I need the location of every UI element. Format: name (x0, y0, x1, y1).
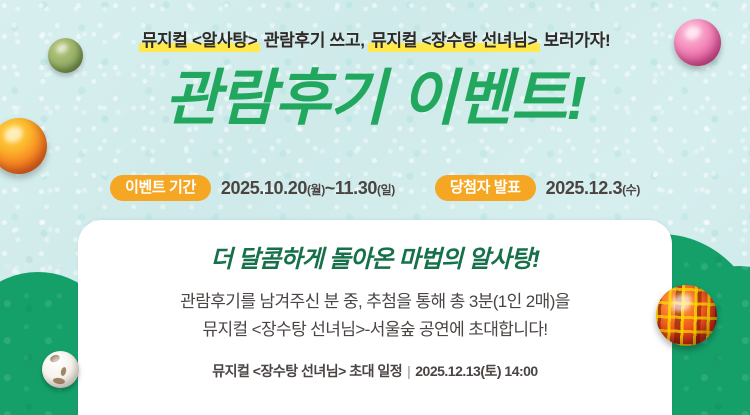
card-body-line-1: 관람후기를 남겨주신 분 중, 추첨을 통해 총 3분(1인 2매)을 (78, 288, 672, 316)
badge-row: 이벤트 기간 2025.10.20(월)~11.30(일) 당첨자 발표 202… (0, 175, 750, 201)
tagline-highlight-musical-jangsutang: 뮤지컬 <장수탕 선녀님> (369, 26, 539, 51)
winner-announcement-value: 2025.12.3(수) (546, 178, 640, 199)
schedule-value: 2025.12.13(토) 14:00 (415, 363, 537, 379)
event-period-value: 2025.10.20(월)~11.30(일) (221, 178, 395, 199)
event-period-group: 이벤트 기간 2025.10.20(월)~11.30(일) (110, 175, 395, 201)
card-body: 관람후기를 남겨주신 분 중, 추첨을 통해 총 3분(1인 2매)을 뮤지컬 … (78, 288, 672, 343)
event-banner: 뮤지컬 <알사탕> 관람후기 쓰고, 뮤지컬 <장수탕 선녀님> 보러가자! 관… (0, 0, 750, 415)
info-card: 더 달콤하게 돌아온 마법의 알사탕! 관람후기를 남겨주신 분 중, 추첨을 … (78, 220, 672, 415)
page-title: 관람후기 이벤트! (0, 68, 750, 129)
white-candy (42, 351, 79, 388)
event-period-badge: 이벤트 기간 (110, 175, 211, 201)
plaid-candy (656, 285, 717, 346)
schedule-separator: | (402, 363, 415, 379)
card-schedule-note: 뮤지컬 <장수탕 선녀님> 초대 일정|2025.12.13(토) 14:00 (78, 361, 672, 381)
tagline: 뮤지컬 <알사탕> 관람후기 쓰고, 뮤지컬 <장수탕 선녀님> 보러가자! (0, 26, 750, 51)
card-body-line-2: 뮤지컬 <장수탕 선녀님>-서울숲 공연에 초대합니다! (78, 316, 672, 344)
winner-announcement-group: 당첨자 발표 2025.12.3(수) (435, 175, 640, 201)
tagline-middle-text: 관람후기 쓰고, (259, 31, 369, 50)
card-heading: 더 달콤하게 돌아온 마법의 알사탕! (78, 239, 672, 274)
schedule-label: 뮤지컬 <장수탕 선녀님> 초대 일정 (212, 363, 402, 379)
tagline-highlight-musical-alsatang: 뮤지컬 <알사탕> (140, 26, 260, 51)
winner-announcement-badge: 당첨자 발표 (435, 175, 536, 201)
tagline-tail-text: 보러가자! (539, 31, 610, 50)
